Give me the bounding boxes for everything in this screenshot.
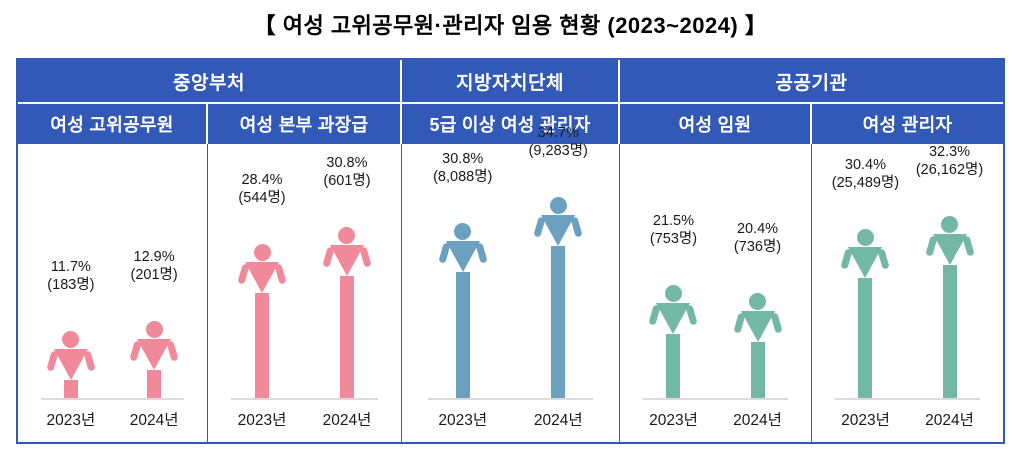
bar-group-2023[interactable]: 28.4% (544명) 2023년	[220, 144, 305, 442]
pictogram-torso	[933, 234, 967, 265]
bar-group-2024[interactable]: 32.3% (26,162명) 2024년	[908, 144, 992, 442]
person-pictogram	[735, 293, 781, 398]
group-header-cell-public: 공공기관	[620, 60, 1003, 102]
value-percent: 32.3%	[916, 143, 983, 161]
value-label: 21.5% (753명)	[650, 212, 697, 248]
pictogram-body-icon	[735, 311, 781, 342]
value-label: 11.7% (183명)	[47, 258, 94, 294]
pictogram-body-icon	[48, 349, 94, 380]
x-axis-year-label: 2023년	[47, 408, 96, 430]
pictogram-head-icon	[665, 285, 682, 302]
pictogram-head-icon	[454, 223, 471, 240]
x-axis-year-label: 2023년	[438, 408, 487, 430]
pictogram-body-icon	[535, 215, 581, 246]
value-percent: 11.7%	[47, 258, 94, 276]
value-count: (736명)	[734, 238, 781, 256]
pictogram-head-icon	[338, 227, 355, 244]
bar-stem	[551, 246, 565, 398]
column-header-label: 여성 본부 과장급	[240, 111, 369, 137]
bar-group-2023[interactable]: 30.8% (8,088명) 2023년	[415, 144, 510, 442]
group-header-label: 공공기관	[776, 68, 848, 95]
group-header-row: 중앙부처 지방자치단체 공공기관	[18, 60, 1003, 102]
group-header-label: 중앙부처	[173, 68, 245, 95]
pictogram-head-icon	[550, 197, 567, 214]
bar-group-2024[interactable]: 20.4% (736명) 2024년	[716, 144, 800, 442]
pictogram-head-icon	[254, 244, 271, 261]
pictogram-head-icon	[941, 216, 958, 233]
bar-stem	[943, 265, 957, 398]
bar-stem	[751, 342, 765, 398]
x-axis-year-label: 2023년	[841, 408, 890, 430]
column-header-row: 여성 고위공무원 여성 본부 과장급 5급 이상 여성 관리자 여성 임원 여성…	[18, 102, 1003, 144]
page-title: 【 여성 고위공무원·관리자 임용 현황 (2023~2024) 】	[0, 8, 1021, 40]
value-count: (25,489명)	[832, 174, 899, 192]
column-header-executives: 여성 임원	[620, 104, 812, 144]
pictogram-torso	[446, 241, 480, 272]
bar-group-2023[interactable]: 21.5% (753명) 2023년	[631, 144, 715, 442]
bar-stem	[255, 293, 269, 398]
chart-panel-managers: 30.4% (25,489명) 2023년	[812, 144, 1003, 442]
x-axis-year-label: 2023년	[238, 408, 287, 430]
x-axis-year-label: 2024년	[925, 408, 974, 430]
value-label: 34.7% (9,283명)	[529, 124, 588, 160]
value-count: (753명)	[650, 230, 697, 248]
value-percent: 30.4%	[832, 156, 899, 174]
chart-panel-senior-officials: 11.7% (183명) 2023년	[18, 144, 208, 442]
group-header-cell-central: 중앙부처	[18, 60, 402, 102]
pictogram-body-icon	[324, 245, 370, 276]
value-count: (9,283명)	[529, 142, 588, 160]
value-count: (544명)	[238, 189, 285, 207]
value-percent: 30.8%	[323, 154, 370, 172]
bar-group-2024[interactable]: 30.8% (601명) 2024년	[305, 144, 390, 442]
column-header-label: 여성 임원	[679, 111, 752, 137]
value-percent: 21.5%	[650, 212, 697, 230]
value-count: (201명)	[130, 266, 177, 284]
infographic-table: 중앙부처 지방자치단체 공공기관 여성 고위공무원 여성 본부 과장급 5급 이…	[16, 58, 1005, 444]
person-pictogram	[239, 244, 285, 398]
pictogram-body-icon	[927, 234, 973, 265]
pictogram-torso	[330, 245, 364, 276]
bar-stem	[858, 278, 872, 398]
column-header-senior-officials: 여성 고위공무원	[18, 104, 208, 144]
value-count: (183명)	[47, 276, 94, 294]
pictogram-body-icon	[842, 247, 888, 278]
value-count: (8,088명)	[433, 168, 492, 186]
pictogram-head-icon	[857, 229, 874, 246]
value-label: 30.8% (601명)	[323, 154, 370, 190]
bar-stem	[64, 380, 78, 398]
value-percent: 34.7%	[529, 124, 588, 142]
value-label: 30.8% (8,088명)	[433, 150, 492, 186]
x-axis-year-label: 2024년	[130, 408, 179, 430]
value-label: 30.4% (25,489명)	[832, 156, 899, 192]
value-label: 28.4% (544명)	[238, 171, 285, 207]
pictogram-head-icon	[62, 331, 79, 348]
value-percent: 30.8%	[433, 150, 492, 168]
x-axis-year-label: 2024년	[534, 408, 583, 430]
bar-stem	[666, 334, 680, 398]
bar-group-2023[interactable]: 11.7% (183명) 2023년	[29, 144, 112, 442]
bar-group-2024[interactable]: 34.7% (9,283명) 2024년	[511, 144, 606, 442]
person-pictogram	[48, 331, 94, 398]
group-header-label: 지방자치단체	[456, 68, 564, 95]
pictogram-body-icon	[239, 262, 285, 293]
value-label: 12.9% (201명)	[130, 248, 177, 284]
group-header-cell-local: 지방자치단체	[402, 60, 620, 102]
pictogram-body-icon	[131, 339, 177, 370]
pictogram-torso	[54, 349, 88, 380]
chart-panel-executives: 21.5% (753명) 2023년	[620, 144, 812, 442]
bar-group-2023[interactable]: 30.4% (25,489명) 2023년	[823, 144, 907, 442]
chart-panel-grade5-managers: 30.8% (8,088명) 2023년	[402, 144, 620, 442]
bar-stem	[456, 272, 470, 398]
person-pictogram	[131, 321, 177, 398]
person-pictogram	[535, 197, 581, 398]
value-percent: 12.9%	[130, 248, 177, 266]
person-pictogram	[324, 227, 370, 398]
value-percent: 28.4%	[238, 171, 285, 189]
person-pictogram	[842, 229, 888, 398]
chart-panel-hq-director: 28.4% (544명) 2023년	[208, 144, 402, 442]
pictogram-body-icon	[650, 303, 696, 334]
pictogram-torso	[741, 311, 775, 342]
value-label: 32.3% (26,162명)	[916, 143, 983, 179]
bar-stem	[340, 276, 354, 398]
chart-body-row: 11.7% (183명) 2023년	[18, 144, 1003, 442]
pictogram-body-icon	[440, 241, 486, 272]
pictogram-torso	[245, 262, 279, 293]
value-count: (26,162명)	[916, 161, 983, 179]
column-header-managers: 여성 관리자	[812, 104, 1003, 144]
value-label: 20.4% (736명)	[734, 220, 781, 256]
x-axis-year-label: 2023년	[649, 408, 698, 430]
person-pictogram	[927, 216, 973, 398]
value-percent: 20.4%	[734, 220, 781, 238]
x-axis-year-label: 2024년	[323, 408, 372, 430]
bar-group-2024[interactable]: 12.9% (201명) 2024년	[113, 144, 196, 442]
column-header-label: 여성 고위공무원	[50, 111, 173, 137]
pictogram-head-icon	[146, 321, 163, 338]
x-axis-year-label: 2024년	[733, 408, 782, 430]
column-header-hq-director: 여성 본부 과장급	[208, 104, 402, 144]
bar-stem	[147, 370, 161, 398]
person-pictogram	[440, 223, 486, 398]
pictogram-head-icon	[749, 293, 766, 310]
value-count: (601명)	[323, 172, 370, 190]
column-header-label: 여성 관리자	[863, 111, 953, 137]
person-pictogram	[650, 285, 696, 398]
